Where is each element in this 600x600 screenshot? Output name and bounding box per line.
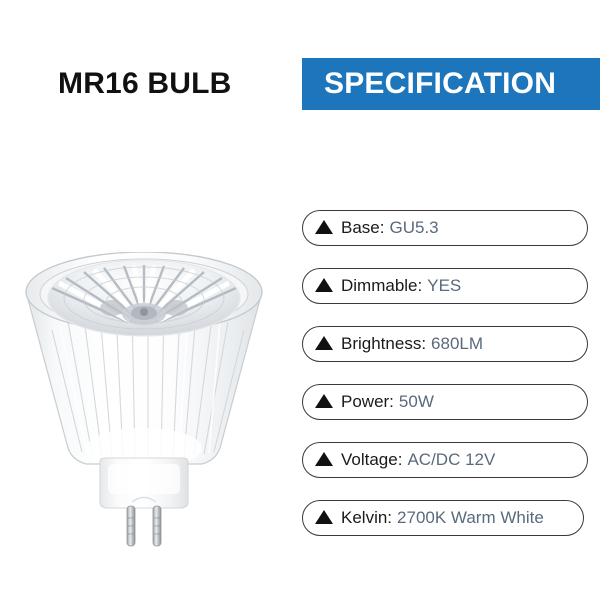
spec-value: 2700K Warm White <box>397 508 544 528</box>
spec-row-dimmable: Dimmable: YES <box>302 268 588 304</box>
spec-label: Power: <box>341 392 394 412</box>
product-image <box>8 252 280 548</box>
spec-value: AC/DC 12V <box>407 450 495 470</box>
triangle-icon <box>315 220 333 234</box>
triangle-icon <box>315 278 333 292</box>
page-title: MR16 BULB <box>0 58 302 110</box>
spec-row-voltage: Voltage: AC/DC 12V <box>302 442 588 478</box>
spec-label: Base: <box>341 218 384 238</box>
spec-label: Dimmable: <box>341 276 422 296</box>
specification-banner: SPECIFICATION <box>302 58 600 110</box>
spec-row-kelvin: Kelvin: 2700K Warm White <box>302 500 584 536</box>
specification-list: Base: GU5.3 Dimmable: YES Brightness: 68… <box>302 210 588 536</box>
mr16-halogen-bulb-icon <box>8 252 280 548</box>
product-spec-page: MR16 BULB SPECIFICATION <box>0 0 600 600</box>
spec-value: YES <box>427 276 461 296</box>
triangle-icon <box>315 452 333 466</box>
triangle-icon <box>315 510 333 524</box>
spec-value: GU5.3 <box>389 218 438 238</box>
spec-row-power: Power: 50W <box>302 384 588 420</box>
spec-row-brightness: Brightness: 680LM <box>302 326 588 362</box>
spec-row-base: Base: GU5.3 <box>302 210 588 246</box>
page-header: MR16 BULB SPECIFICATION <box>0 58 600 110</box>
triangle-icon <box>315 336 333 350</box>
triangle-icon <box>315 394 333 408</box>
spec-label: Kelvin: <box>341 508 392 528</box>
spec-label: Brightness: <box>341 334 426 354</box>
spec-value: 50W <box>399 392 434 412</box>
spec-label: Voltage: <box>341 450 402 470</box>
spec-value: 680LM <box>431 334 483 354</box>
